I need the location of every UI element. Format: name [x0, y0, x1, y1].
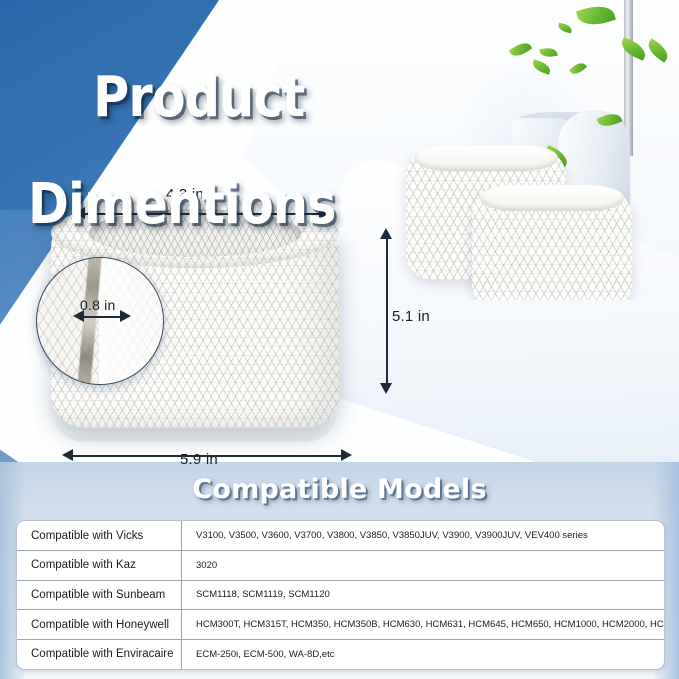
- model-numbers-cell: 3020: [182, 551, 665, 581]
- table-row: Compatible with SunbeamSCM1118, SCM1119,…: [17, 580, 664, 610]
- dimension-label-bottom-width: 5.9 in: [180, 451, 218, 468]
- leaf-icon: [576, 1, 616, 29]
- page-title: Product Dimentions: [28, 18, 336, 337]
- brand-label-cell: Compatible with Kaz: [17, 551, 182, 581]
- table-row: Compatible with VicksV3100, V3500, V3600…: [17, 521, 664, 551]
- brand-label-cell: Compatible with Vicks: [17, 521, 182, 551]
- arrowhead-right-icon: [341, 449, 352, 461]
- brand-label-cell: Compatible with Honeywell: [17, 610, 182, 640]
- arrow-shaft: [386, 234, 388, 388]
- arrowhead-down-icon: [380, 383, 392, 394]
- product-dimensions-infographic: 4.3 in 5.9 in 5.1 in 0.8 in Product Dime…: [0, 0, 679, 679]
- filter-rim: [480, 185, 624, 211]
- page-title-line1: Product: [93, 65, 304, 130]
- leaf-icon: [509, 39, 533, 60]
- model-numbers-cell: SCM1118, SCM1119, SCM1120: [182, 580, 665, 610]
- model-numbers-cell: V3100, V3500, V3600, V3700, V3800, V3850…: [182, 521, 665, 551]
- leaf-icon: [539, 47, 557, 58]
- lifestyle-photo: [372, 0, 679, 300]
- compatible-models-table: Compatible with VicksV3100, V3500, V3600…: [16, 520, 665, 670]
- dimension-label-height: 5.1 in: [392, 308, 430, 325]
- page-title-line2: Dimentions: [28, 178, 336, 231]
- model-numbers-cell: ECM-250i, ECM-500, WA-8D,etc: [182, 639, 665, 669]
- photo-wick-filter-front: [472, 190, 632, 300]
- compatible-models-heading: Compatible Models: [0, 474, 679, 505]
- wick-filter-bottom-shadow: [51, 408, 339, 442]
- model-numbers-cell: HCM300T, HCM315T, HCM350, HCM350B, HCM63…: [182, 610, 665, 640]
- leaf-icon: [644, 38, 671, 62]
- table-row: Compatible with Kaz3020: [17, 551, 664, 581]
- table-row: Compatible with HoneywellHCM300T, HCM315…: [17, 610, 664, 640]
- leaf-icon: [557, 23, 572, 34]
- table-row: Compatible with EnviracaireECM-250i, ECM…: [17, 639, 664, 669]
- brand-label-cell: Compatible with Enviracaire: [17, 639, 182, 669]
- filter-rim: [414, 145, 558, 171]
- leaf-icon: [618, 37, 648, 61]
- brand-label-cell: Compatible with Sunbeam: [17, 580, 182, 610]
